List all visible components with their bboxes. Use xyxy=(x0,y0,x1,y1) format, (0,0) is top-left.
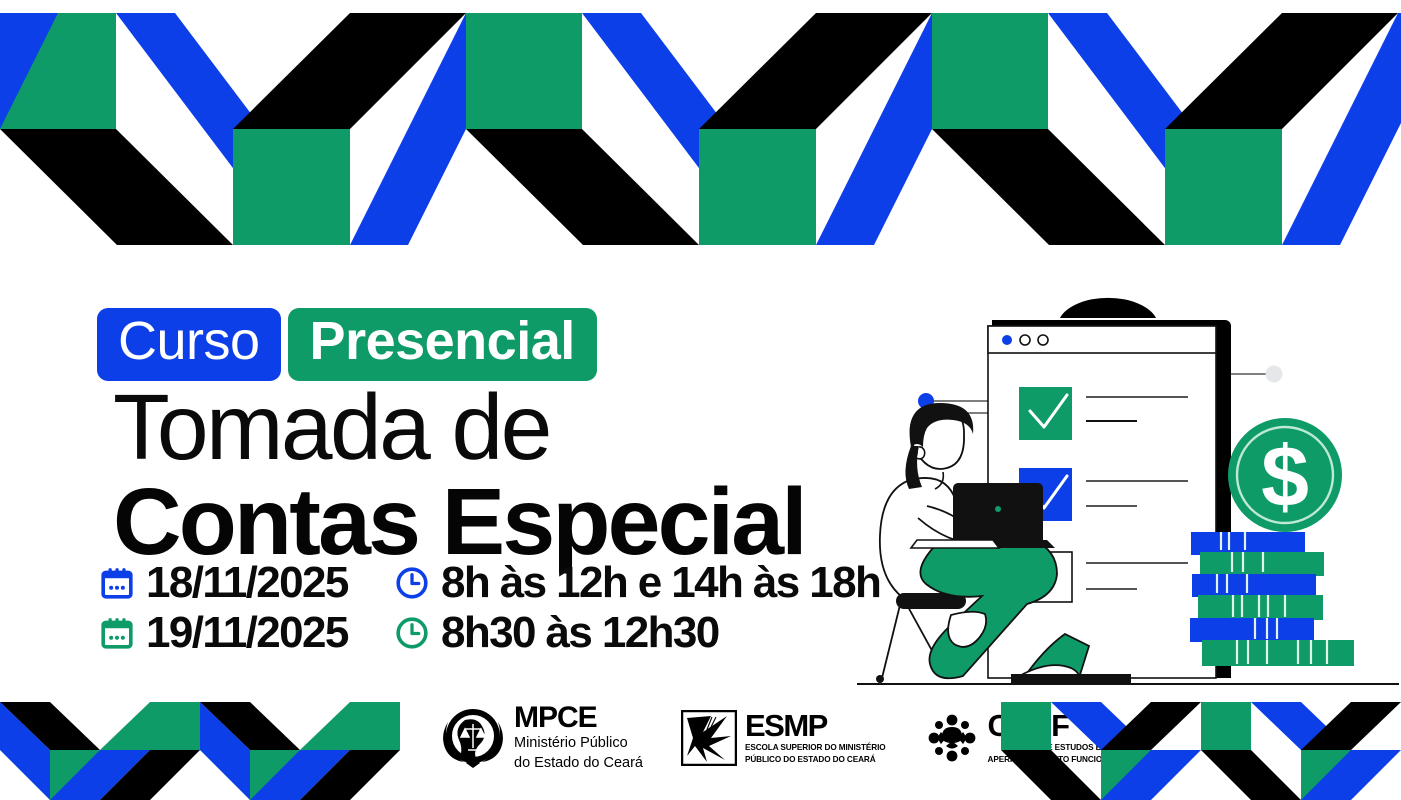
esmp-subtitle-line1: ESCOLA SUPERIOR DO MINISTÉRIO xyxy=(745,743,886,754)
bottom-right-pattern-svg xyxy=(964,692,1401,800)
bottom-left-pattern-svg xyxy=(0,692,400,800)
bottom-right-chevron-pattern xyxy=(964,692,1401,800)
title-line-1: Tomada de xyxy=(113,385,805,471)
esmp-mark-icon xyxy=(681,710,737,766)
schedule-time: 8h às 12h e 14h às 18h xyxy=(441,558,880,608)
esmp-text: ESMP ESCOLA SUPERIOR DO MINISTÉRIO PÚBLI… xyxy=(745,710,886,766)
top-chevron-pattern xyxy=(0,0,1401,245)
dollar-symbol: $ xyxy=(1261,429,1309,525)
coin-bill xyxy=(1190,618,1314,642)
mpce-seal-icon xyxy=(440,707,506,769)
illustration-svg: $ xyxy=(855,280,1401,692)
clock-icon xyxy=(395,566,429,600)
mpce-acronym: MPCE xyxy=(514,703,643,733)
calendar-icon xyxy=(100,616,134,650)
checkbox-green xyxy=(1019,387,1072,440)
coin-bill xyxy=(1192,574,1316,597)
badge-curso: Curso xyxy=(97,308,281,381)
mpce-subtitle-line1: Ministério Público xyxy=(514,735,643,753)
mpce-subtitle-line2: do Estado do Ceará xyxy=(514,755,643,773)
modality-badges: Curso Presencial xyxy=(97,308,597,381)
window-dot xyxy=(1038,335,1048,345)
top-pattern-svg xyxy=(0,0,1401,245)
schedule-block: 18/11/2025 8h às 12h e 14h às 18h xyxy=(100,558,880,658)
coin-bill xyxy=(1202,640,1354,666)
title-line-2: Contas Especial xyxy=(113,477,805,567)
page-title: Tomada de Contas Especial xyxy=(113,385,805,567)
poster-canvas: Curso Presencial Tomada de Contas Especi… xyxy=(0,0,1401,800)
esmp-acronym: ESMP xyxy=(745,710,886,741)
schedule-time: 8h30 às 12h30 xyxy=(441,608,719,658)
calendar-icon xyxy=(100,566,134,600)
window-dot-blue xyxy=(1002,335,1012,345)
clock-icon xyxy=(395,616,429,650)
bottom-left-chevron-pattern xyxy=(0,692,400,800)
schedule-row: 19/11/2025 8h30 às 12h30 xyxy=(100,608,880,658)
logo-mpce: MPCE Ministério Público do Estado do Cea… xyxy=(440,703,643,772)
esmp-subtitle-line2: PÚBLICO DO ESTADO DO CEARÁ xyxy=(745,755,886,766)
schedule-date: 18/11/2025 xyxy=(146,558,389,608)
badge-presencial: Presencial xyxy=(288,308,597,381)
deco-dot-grey xyxy=(1266,366,1283,383)
coin-bill xyxy=(1191,532,1305,555)
mpce-text: MPCE Ministério Público do Estado do Cea… xyxy=(514,703,643,772)
coin-bill xyxy=(1198,595,1323,620)
window-dot xyxy=(1020,335,1030,345)
schedule-row: 18/11/2025 8h às 12h e 14h às 18h xyxy=(100,558,880,608)
schedule-date: 19/11/2025 xyxy=(146,608,389,658)
illustration-woman-laptop-checklist: $ xyxy=(855,280,1401,692)
logo-esmp: ESMP ESCOLA SUPERIOR DO MINISTÉRIO PÚBLI… xyxy=(681,710,886,766)
